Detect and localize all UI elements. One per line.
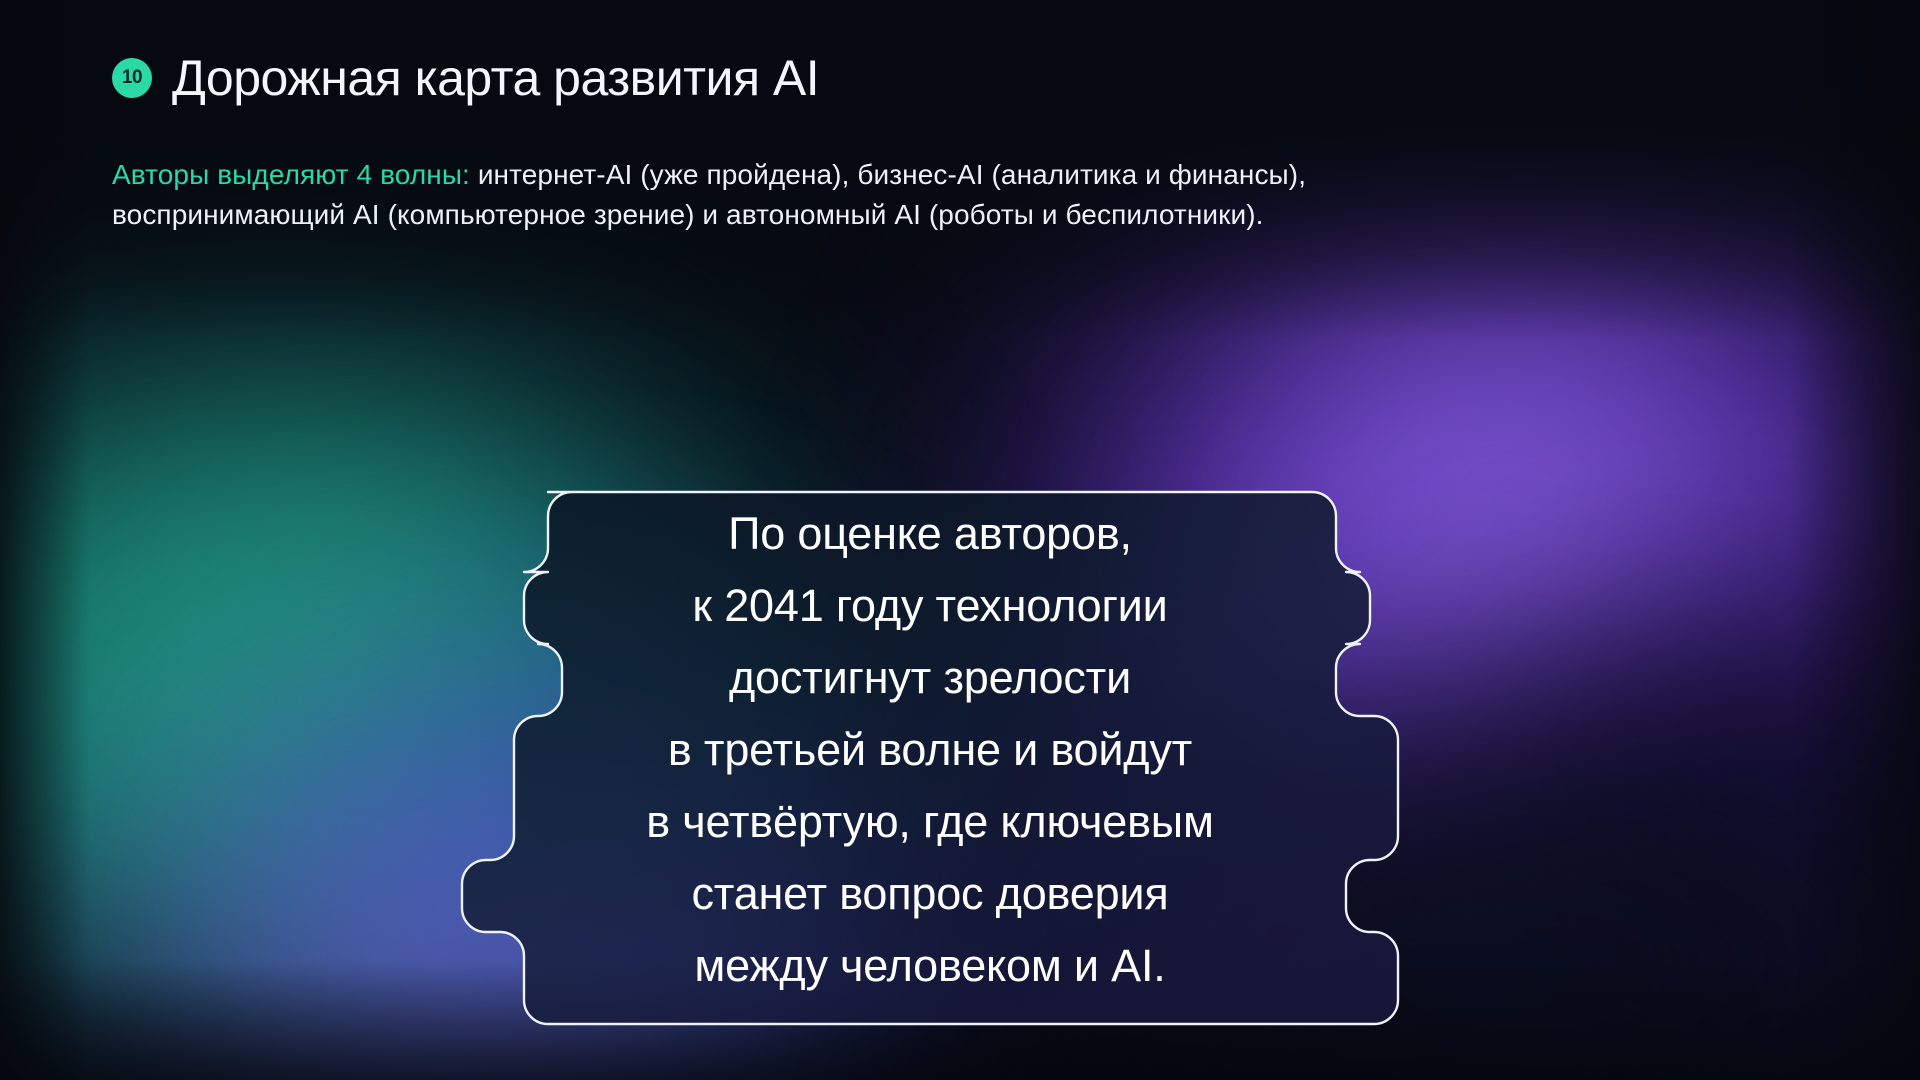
slide-subtitle: Авторы выделяют 4 волны: интернет-AI (уж… [112,155,1442,235]
vignette-right [1790,0,1920,1080]
quote-card: По оценке авторов, к 2041 году технологи… [480,478,1380,1038]
slide-header: 10 Дорожная карта развития AI [112,52,819,105]
slide-number-badge: 10 [112,58,152,98]
subtitle-lead: Авторы выделяют 4 волны: [112,159,470,190]
vignette-left [0,0,90,1080]
quote-card-outline [480,478,1380,1038]
page-title: Дорожная карта развития AI [172,52,819,105]
slide-canvas: 10 Дорожная карта развития AI Авторы выд… [0,0,1920,1080]
